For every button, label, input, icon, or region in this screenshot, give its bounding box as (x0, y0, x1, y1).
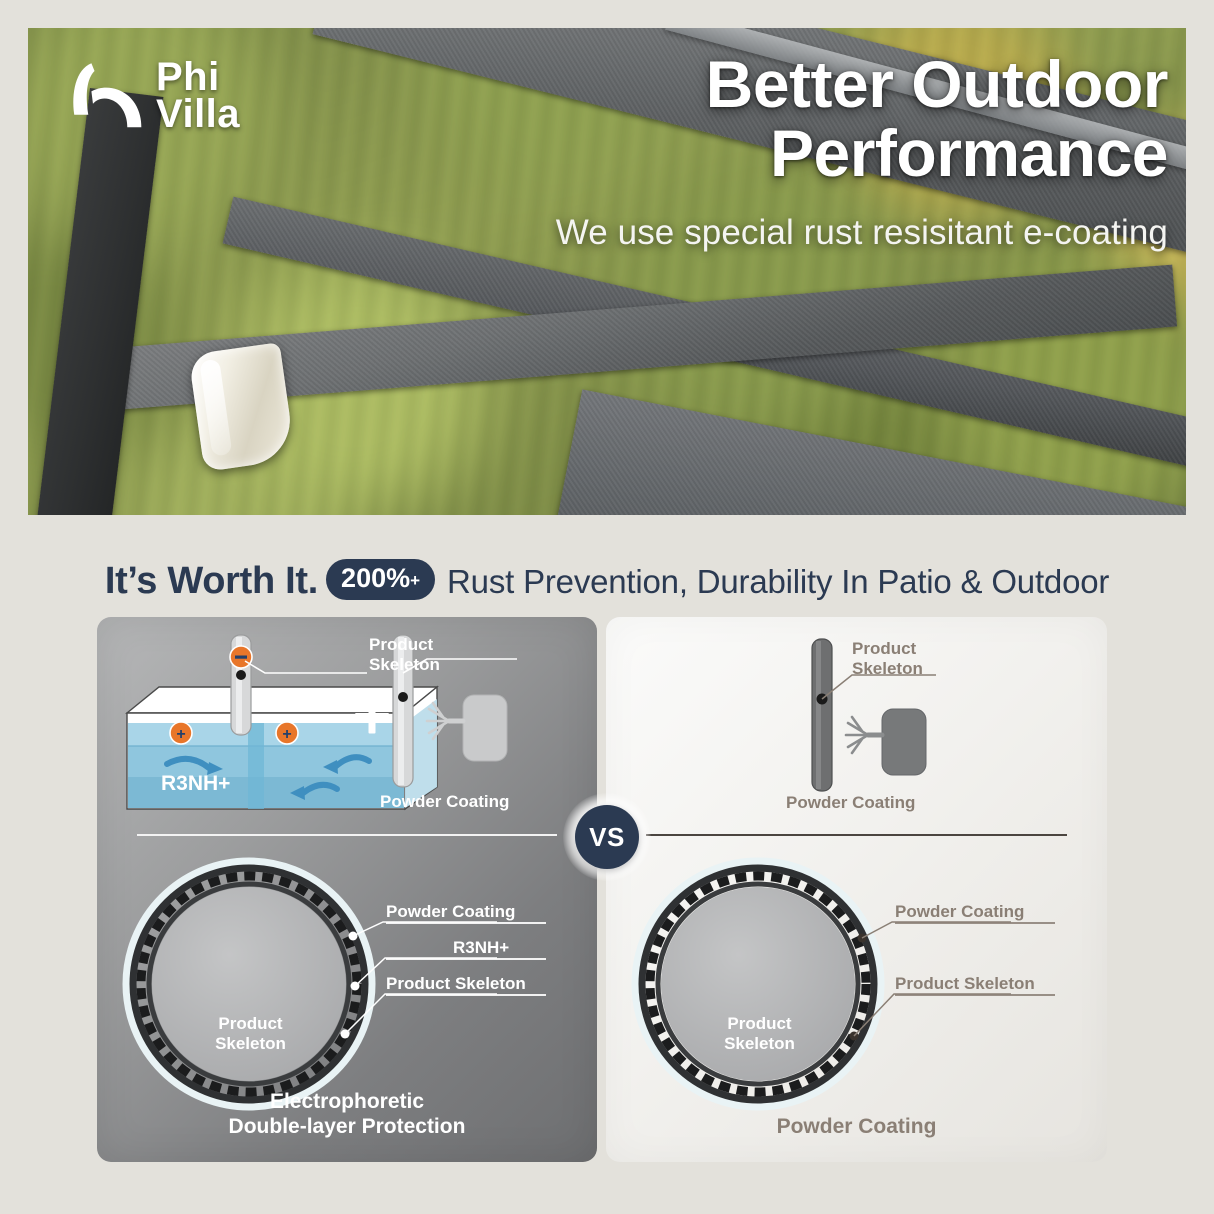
badge-superscript: + (410, 571, 420, 591)
right-callout-rule-2 (895, 994, 1055, 996)
left-callout-product-skeleton: Product Skeleton (386, 974, 526, 994)
hero-title-line1: Better Outdoor (348, 50, 1168, 119)
left-core-label: Product Skeleton (193, 1014, 308, 1054)
right-cross-section: Product Skeleton Powder Coating Product … (606, 834, 1107, 1134)
heading-description: Rust Prevention, Durability In Patio & O… (447, 563, 1109, 601)
right-product-skeleton-label: Product Skeleton (852, 639, 923, 678)
left-product-skeleton-label: Product Skeleton (369, 635, 440, 674)
brand-wordmark: Phi Villa (156, 59, 240, 133)
right-callout-powder-coating: Powder Coating (895, 902, 1024, 922)
left-caption-line1: Electrophoretic (97, 1089, 597, 1115)
section-heading: It’s Worth It. 200%+ Rust Prevention, Du… (0, 560, 1214, 603)
hero-banner: Phi Villa Better Outdoor Performance We … (28, 28, 1186, 515)
left-caption-line2: Double-layer Protection (97, 1114, 597, 1140)
status-badge: 200%+ (326, 559, 435, 600)
right-powder-coating-label: Powder Coating (786, 793, 915, 813)
comparison-panel-electrophoretic: + + (97, 617, 597, 1162)
brand-name-line1: Phi (156, 59, 240, 96)
infographic-page: Phi Villa Better Outdoor Performance We … (0, 0, 1214, 1214)
vs-badge-wrapper: VS (563, 793, 651, 881)
svg-text:+: + (176, 726, 185, 743)
right-callout-rule-1 (895, 922, 1055, 924)
left-callout-powder-coating: Powder Coating (386, 902, 515, 922)
electrophoretic-process-illustration: + + (97, 617, 597, 834)
left-powder-coating-label: Powder Coating (380, 792, 509, 812)
left-callout-r3nh: R3NH+ (453, 938, 509, 958)
phi-villa-h-mark-icon (68, 56, 146, 136)
brand-logo: Phi Villa (68, 56, 240, 136)
left-bath-chemical-label: R3NH+ (161, 772, 230, 796)
vs-badge: VS (575, 805, 639, 869)
hero-title: Better Outdoor Performance (348, 50, 1168, 187)
right-callout-product-skeleton: Product Skeleton (895, 974, 1035, 994)
left-panel-caption: Electrophoretic Double-layer Protection (97, 1089, 597, 1140)
hero-subtitle: We use special rust resisitant e-coating (348, 213, 1168, 253)
hero-copy: Better Outdoor Performance We use specia… (348, 50, 1168, 253)
brand-name-line2: Villa (156, 96, 240, 133)
worth-it-text: It’s Worth It. (105, 560, 318, 603)
right-core-label: Product Skeleton (702, 1014, 817, 1054)
badge-value: 200% (341, 563, 410, 594)
left-callout-rule-1 (386, 922, 546, 924)
electrophoresis-bath-diagram: + + (97, 617, 597, 834)
comparison-panel-powder-coating: Product Skeleton Powder Coating (606, 617, 1107, 1162)
powder-coating-process-illustration: Product Skeleton Powder Coating (606, 617, 1107, 834)
svg-text:+: + (282, 726, 291, 743)
left-callout-rule-2 (386, 958, 546, 960)
hero-title-line2: Performance (348, 119, 1168, 188)
left-callout-rule-3 (386, 994, 546, 996)
right-panel-caption: Powder Coating (606, 1114, 1107, 1140)
